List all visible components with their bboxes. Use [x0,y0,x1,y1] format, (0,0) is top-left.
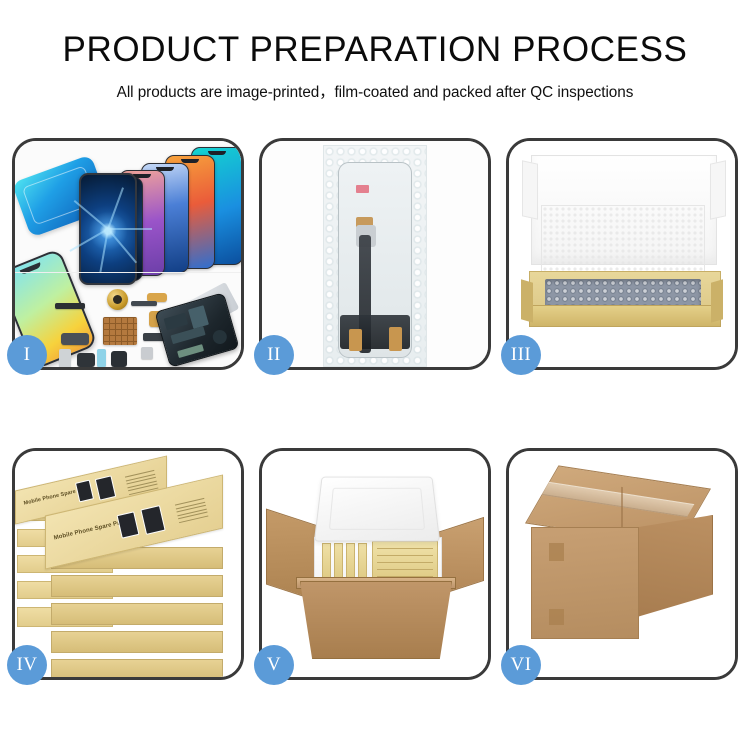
part-antenna-icon [131,301,157,306]
part-flex-icon [61,333,89,345]
step-badge-3: III [501,335,541,375]
open-box-scene [509,141,735,367]
step-badge-2: II [254,335,294,375]
part-battery-icon [59,349,71,367]
tray-right-cap-icon [711,279,723,322]
foam-lid-icon [314,477,440,542]
part-button-icon [77,353,95,367]
connector-tab-right-icon [389,327,402,351]
carton-patch-bottom-icon [549,609,564,625]
kraft-tray-front-icon [529,305,721,327]
stack-box-f4 [51,631,223,653]
step-2-image [262,141,488,367]
stack-box-f5 [51,659,223,677]
bubble-wrap-scene [262,141,488,367]
step-4-image: Mobile Phone Spare Parts [15,451,241,677]
lcd-screen-icon [338,162,412,358]
process-step-1: I [12,138,244,370]
carton-front-icon [531,527,639,639]
step-badge-5: V [254,645,294,685]
process-step-3: III [506,138,738,370]
page-subtitle: All products are image-printed，film-coat… [117,80,634,102]
process-step-6: VI [506,448,738,680]
step-3-image [509,141,735,367]
page-title: PRODUCT PREPARATION PROCESS [63,31,688,69]
carton-side-icon [637,515,713,617]
step-5-image [262,451,488,677]
process-step-4: Mobile Phone Spare Parts [12,448,244,680]
kraft-box-stack: Mobile Phone Spare Parts [15,451,241,677]
step-badge-1: I [7,335,47,375]
box-stack-scene: Mobile Phone Spare Parts [15,451,241,677]
step-6-image [509,451,735,677]
carton-packing-scene [262,451,488,677]
step-badge-4: IV [7,645,47,685]
part-sensor-icon [141,347,153,359]
part-strip-icon [55,303,85,309]
sealed-carton-scene [509,451,735,677]
carton-body-icon [300,581,452,659]
process-step-grid: I [12,138,738,680]
stack-box-f2 [51,575,223,597]
tempered-glass-screen-icon [79,173,137,285]
carton-patch-top-icon [549,543,564,561]
bubble-wrap-bag-icon [323,145,427,367]
stack-box-f3 [51,603,223,625]
process-step-2: II [259,138,491,370]
product-preparation-infographic: PRODUCT PREPARATION PROCESS All products… [0,0,750,750]
step-badge-6: VI [501,645,541,685]
chip-array-icon [103,317,137,345]
qc-label-icon [356,185,369,193]
header: PRODUCT PREPARATION PROCESS All products… [0,0,750,125]
tray-left-cap-icon [521,279,533,322]
phone-motherboard-icon [154,292,239,367]
connector-tab-left-icon [349,329,362,351]
part-sim-tray-icon [97,349,106,367]
phone-parts-scene [15,141,241,367]
step-1-image [15,141,241,367]
process-step-5: V [259,448,491,680]
speaker-module-icon [107,289,128,310]
part-vibrator-icon [111,351,127,367]
